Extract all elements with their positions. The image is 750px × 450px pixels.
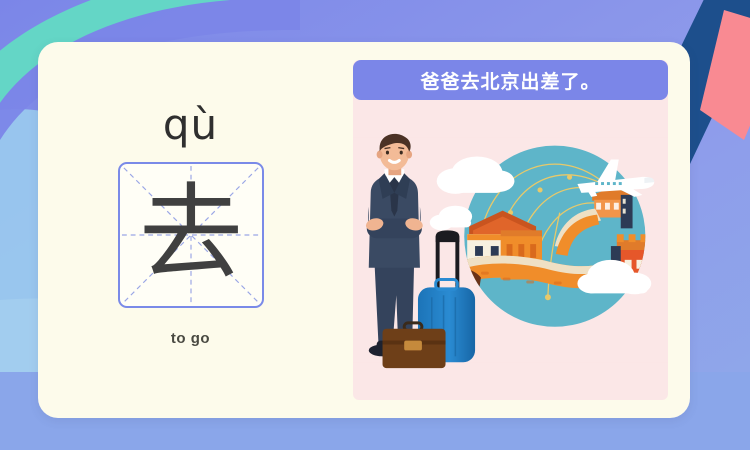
character-pane: qù 去 to go <box>38 42 343 418</box>
illustration-panel: 爸爸去北京出差了。 <box>353 60 668 400</box>
briefcase <box>383 323 446 368</box>
pinyin-label: qù <box>38 100 343 149</box>
character-grid-box: 去 <box>118 162 264 308</box>
illustration-pane: 爸爸去北京出差了。 <box>343 42 690 418</box>
hanzi-character: 去 <box>120 164 262 306</box>
english-meaning: to go <box>38 330 343 347</box>
sentence-banner: 爸爸去北京出差了。 <box>353 60 668 100</box>
travel-scene <box>353 100 668 400</box>
flashcard: qù 去 to go 爸爸去北京出差了。 <box>38 42 690 418</box>
